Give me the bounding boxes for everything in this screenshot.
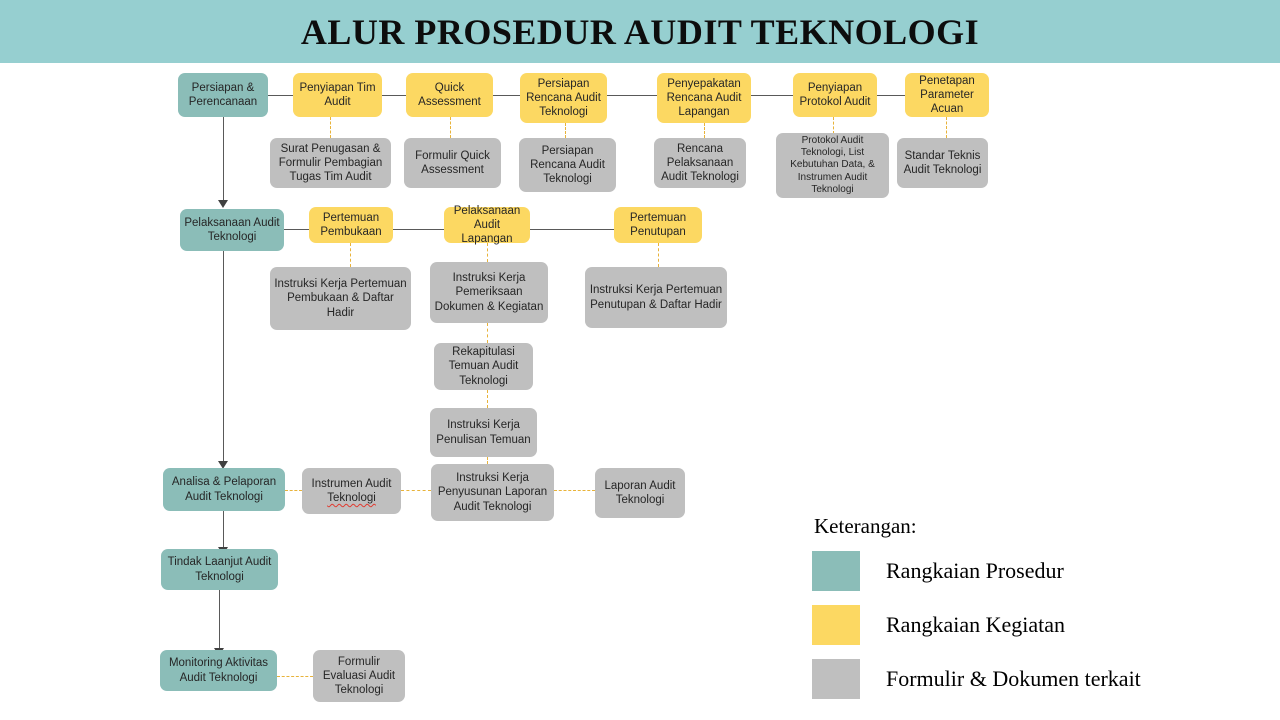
node-label: Quick Assessment (410, 81, 489, 109)
page-title: ALUR PROSEDUR AUDIT TEKNOLOGI (0, 0, 1280, 63)
legend-item-procedure: Rangkaian Prosedur (812, 547, 1232, 595)
doc-instruksi-kerja-pemeriksaan-dokumen[interactable]: Instruksi Kerja Pemeriksaan Dokumen & Ke… (430, 262, 548, 323)
connector-proc1-proc2 (223, 117, 224, 201)
doc-instruksi-kerja-pertemuan-penutupan[interactable]: Instruksi Kerja Pertemuan Penutupan & Da… (585, 267, 727, 328)
doc-label: Persiapan Rencana Audit Teknologi (523, 144, 612, 186)
doc-instruksi-kerja-penulisan-temuan[interactable]: Instruksi Kerja Penulisan Temuan (430, 408, 537, 457)
doc-formulir-quick-assessment[interactable]: Formulir Quick Assessment (404, 138, 501, 188)
node-label: Pertemuan Pembukaan (313, 211, 389, 239)
legend-label-document: Formulir & Dokumen terkait (886, 666, 1141, 692)
connector-doc13-doc14 (554, 490, 595, 491)
node-analisa-pelaporan-audit-teknologi[interactable]: Analisa & Pelaporan Audit Teknologi (163, 468, 285, 511)
doc-label: Instruksi Kerja Penyusunan Laporan Audit… (435, 471, 550, 513)
connector-proc4-proc5 (219, 590, 220, 650)
connector-act6-doc6 (946, 117, 947, 138)
diagram-canvas: ALUR PROSEDUR AUDIT TEKNOLOGI Persiapan … (0, 0, 1280, 720)
connector-act5-act6 (877, 95, 905, 96)
connector-proc3-proc4 (223, 511, 224, 549)
doc-label: Formulir Quick Assessment (408, 149, 497, 177)
node-persiapan-perencanaan[interactable]: Persiapan & Perencanaan (178, 73, 268, 117)
doc-label: Protokol Audit Teknologi, List Kebutuhan… (780, 135, 885, 196)
connector-proc2-act7 (284, 229, 309, 230)
doc-label: Instruksi Kerja Pemeriksaan Dokumen & Ke… (434, 271, 544, 313)
doc-label: Rekapitulasi Temuan Audit Teknologi (438, 345, 529, 387)
connector-act3-doc3 (565, 123, 566, 138)
connector-act4-act5 (751, 95, 793, 96)
node-pelaksanaan-audit-teknologi[interactable]: Pelaksanaan Audit Teknologi (180, 209, 284, 251)
node-persiapan-rencana-audit-teknologi[interactable]: Persiapan Rencana Audit Teknologi (520, 73, 607, 123)
doc-label: Formulir Evaluasi Audit Teknologi (317, 655, 401, 697)
connector-act1-doc1 (330, 117, 331, 138)
connector-act9-doc9 (658, 243, 659, 267)
doc-label: Instruksi Kerja Penulisan Temuan (434, 418, 533, 446)
doc-label: Instruksi Kerja Pertemuan Pembukaan & Da… (274, 277, 407, 319)
legend-item-document: Formulir & Dokumen terkait (812, 655, 1232, 703)
node-quick-assessment[interactable]: Quick Assessment (406, 73, 493, 117)
doc-label: Laporan Audit Teknologi (599, 479, 681, 507)
doc-label: Instruksi Kerja Pertemuan Penutupan & Da… (589, 283, 723, 311)
doc-protokol-audit-teknologi[interactable]: Protokol Audit Teknologi, List Kebutuhan… (776, 133, 889, 198)
doc-label: Standar Teknis Audit Teknologi (901, 149, 984, 177)
doc-label: Surat Penugasan & Formulir Pembagian Tug… (274, 142, 387, 184)
node-monitoring-aktivitas-audit-teknologi[interactable]: Monitoring Aktivitas Audit Teknologi (160, 650, 277, 691)
node-label: Persiapan & Perencanaan (182, 81, 264, 109)
node-label: Penyepakatan Rencana Audit Lapangan (661, 77, 747, 119)
node-label: Penyiapan Tim Audit (297, 81, 378, 109)
node-penyiapan-tim-audit[interactable]: Penyiapan Tim Audit (293, 73, 382, 117)
connector-act4-doc4 (704, 123, 705, 138)
node-label: Pelaksanaan Audit Lapangan (448, 204, 526, 246)
connector-proc1-act1 (268, 95, 294, 96)
doc-persiapan-rencana-audit-teknologi[interactable]: Persiapan Rencana Audit Teknologi (519, 138, 616, 192)
legend: Keterangan: Rangkaian Prosedur Rangkaian… (812, 514, 1232, 709)
legend-swatch-procedure (812, 551, 860, 591)
legend-label-activity: Rangkaian Kegiatan (886, 612, 1065, 638)
connector-proc5-doc15 (277, 676, 313, 677)
legend-swatch-document (812, 659, 860, 699)
doc-laporan-audit-teknologi[interactable]: Laporan Audit Teknologi (595, 468, 685, 518)
node-label: Tindak Laanjut Audit Teknologi (165, 555, 274, 583)
doc-instrumen-audit-teknologi[interactable]: Instrumen Audit Teknologi (302, 468, 401, 514)
node-pertemuan-penutupan[interactable]: Pertemuan Penutupan (614, 207, 702, 243)
node-label: Analisa & Pelaporan Audit Teknologi (167, 475, 281, 503)
doc-instruksi-kerja-pertemuan-pembukaan[interactable]: Instruksi Kerja Pertemuan Pembukaan & Da… (270, 267, 411, 330)
node-label: Pertemuan Penutupan (618, 211, 698, 239)
doc-label-part-1: Instrumen Audit (306, 477, 397, 491)
node-tindak-lanjut-audit-teknologi[interactable]: Tindak Laanjut Audit Teknologi (161, 549, 278, 590)
node-pertemuan-pembukaan[interactable]: Pertemuan Pembukaan (309, 207, 393, 243)
doc-label: Rencana Pelaksanaan Audit Teknologi (658, 142, 742, 184)
doc-formulir-evaluasi-audit-teknologi[interactable]: Formulir Evaluasi Audit Teknologi (313, 650, 405, 702)
node-penetapan-parameter-acuan[interactable]: Penetapan Parameter Acuan (905, 73, 989, 117)
connector-act5-doc5 (833, 117, 834, 134)
node-label: Monitoring Aktivitas Audit Teknologi (164, 656, 273, 684)
connector-act2-act3 (493, 95, 520, 96)
doc-standar-teknis-audit-teknologi[interactable]: Standar Teknis Audit Teknologi (897, 138, 988, 188)
legend-title: Keterangan: (814, 514, 1232, 539)
legend-item-activity: Rangkaian Kegiatan (812, 601, 1232, 649)
connector-proc3-doc12 (285, 490, 302, 491)
arrow-proc1-proc2 (218, 200, 228, 208)
legend-swatch-activity (812, 605, 860, 645)
connector-act3-act4 (607, 95, 657, 96)
doc-label-misspelled-word: Teknologi (306, 491, 397, 505)
node-label: Pelaksanaan Audit Teknologi (184, 216, 280, 244)
doc-surat-penugasan[interactable]: Surat Penugasan & Formulir Pembagian Tug… (270, 138, 391, 188)
doc-rekapitulasi-temuan-audit-teknologi[interactable]: Rekapitulasi Temuan Audit Teknologi (434, 343, 533, 390)
connector-proc2-proc3 (223, 251, 224, 462)
node-label: Penyiapan Protokol Audit (797, 81, 873, 109)
connector-doc12-doc13 (401, 490, 431, 491)
node-penyepakatan-rencana-audit-lapangan[interactable]: Penyepakatan Rencana Audit Lapangan (657, 73, 751, 123)
connector-act2-doc2 (450, 117, 451, 138)
connector-act7-act8 (393, 229, 444, 230)
connector-doc10-doc11 (487, 390, 488, 408)
doc-rencana-pelaksanaan-audit-teknologi[interactable]: Rencana Pelaksanaan Audit Teknologi (654, 138, 746, 188)
legend-label-procedure: Rangkaian Prosedur (886, 558, 1064, 584)
node-label: Persiapan Rencana Audit Teknologi (524, 77, 603, 119)
doc-instruksi-kerja-penyusunan-laporan[interactable]: Instruksi Kerja Penyusunan Laporan Audit… (431, 464, 554, 521)
node-label: Penetapan Parameter Acuan (909, 74, 985, 116)
node-penyiapan-protokol-audit[interactable]: Penyiapan Protokol Audit (793, 73, 877, 117)
connector-act8-act9 (530, 229, 614, 230)
node-pelaksanaan-audit-lapangan[interactable]: Pelaksanaan Audit Lapangan (444, 207, 530, 243)
connector-act7-doc7 (350, 243, 351, 267)
connector-doc8-doc10 (487, 323, 488, 343)
doc-label: Instrumen Audit Teknologi (306, 477, 397, 505)
connector-act1-act2 (382, 95, 406, 96)
